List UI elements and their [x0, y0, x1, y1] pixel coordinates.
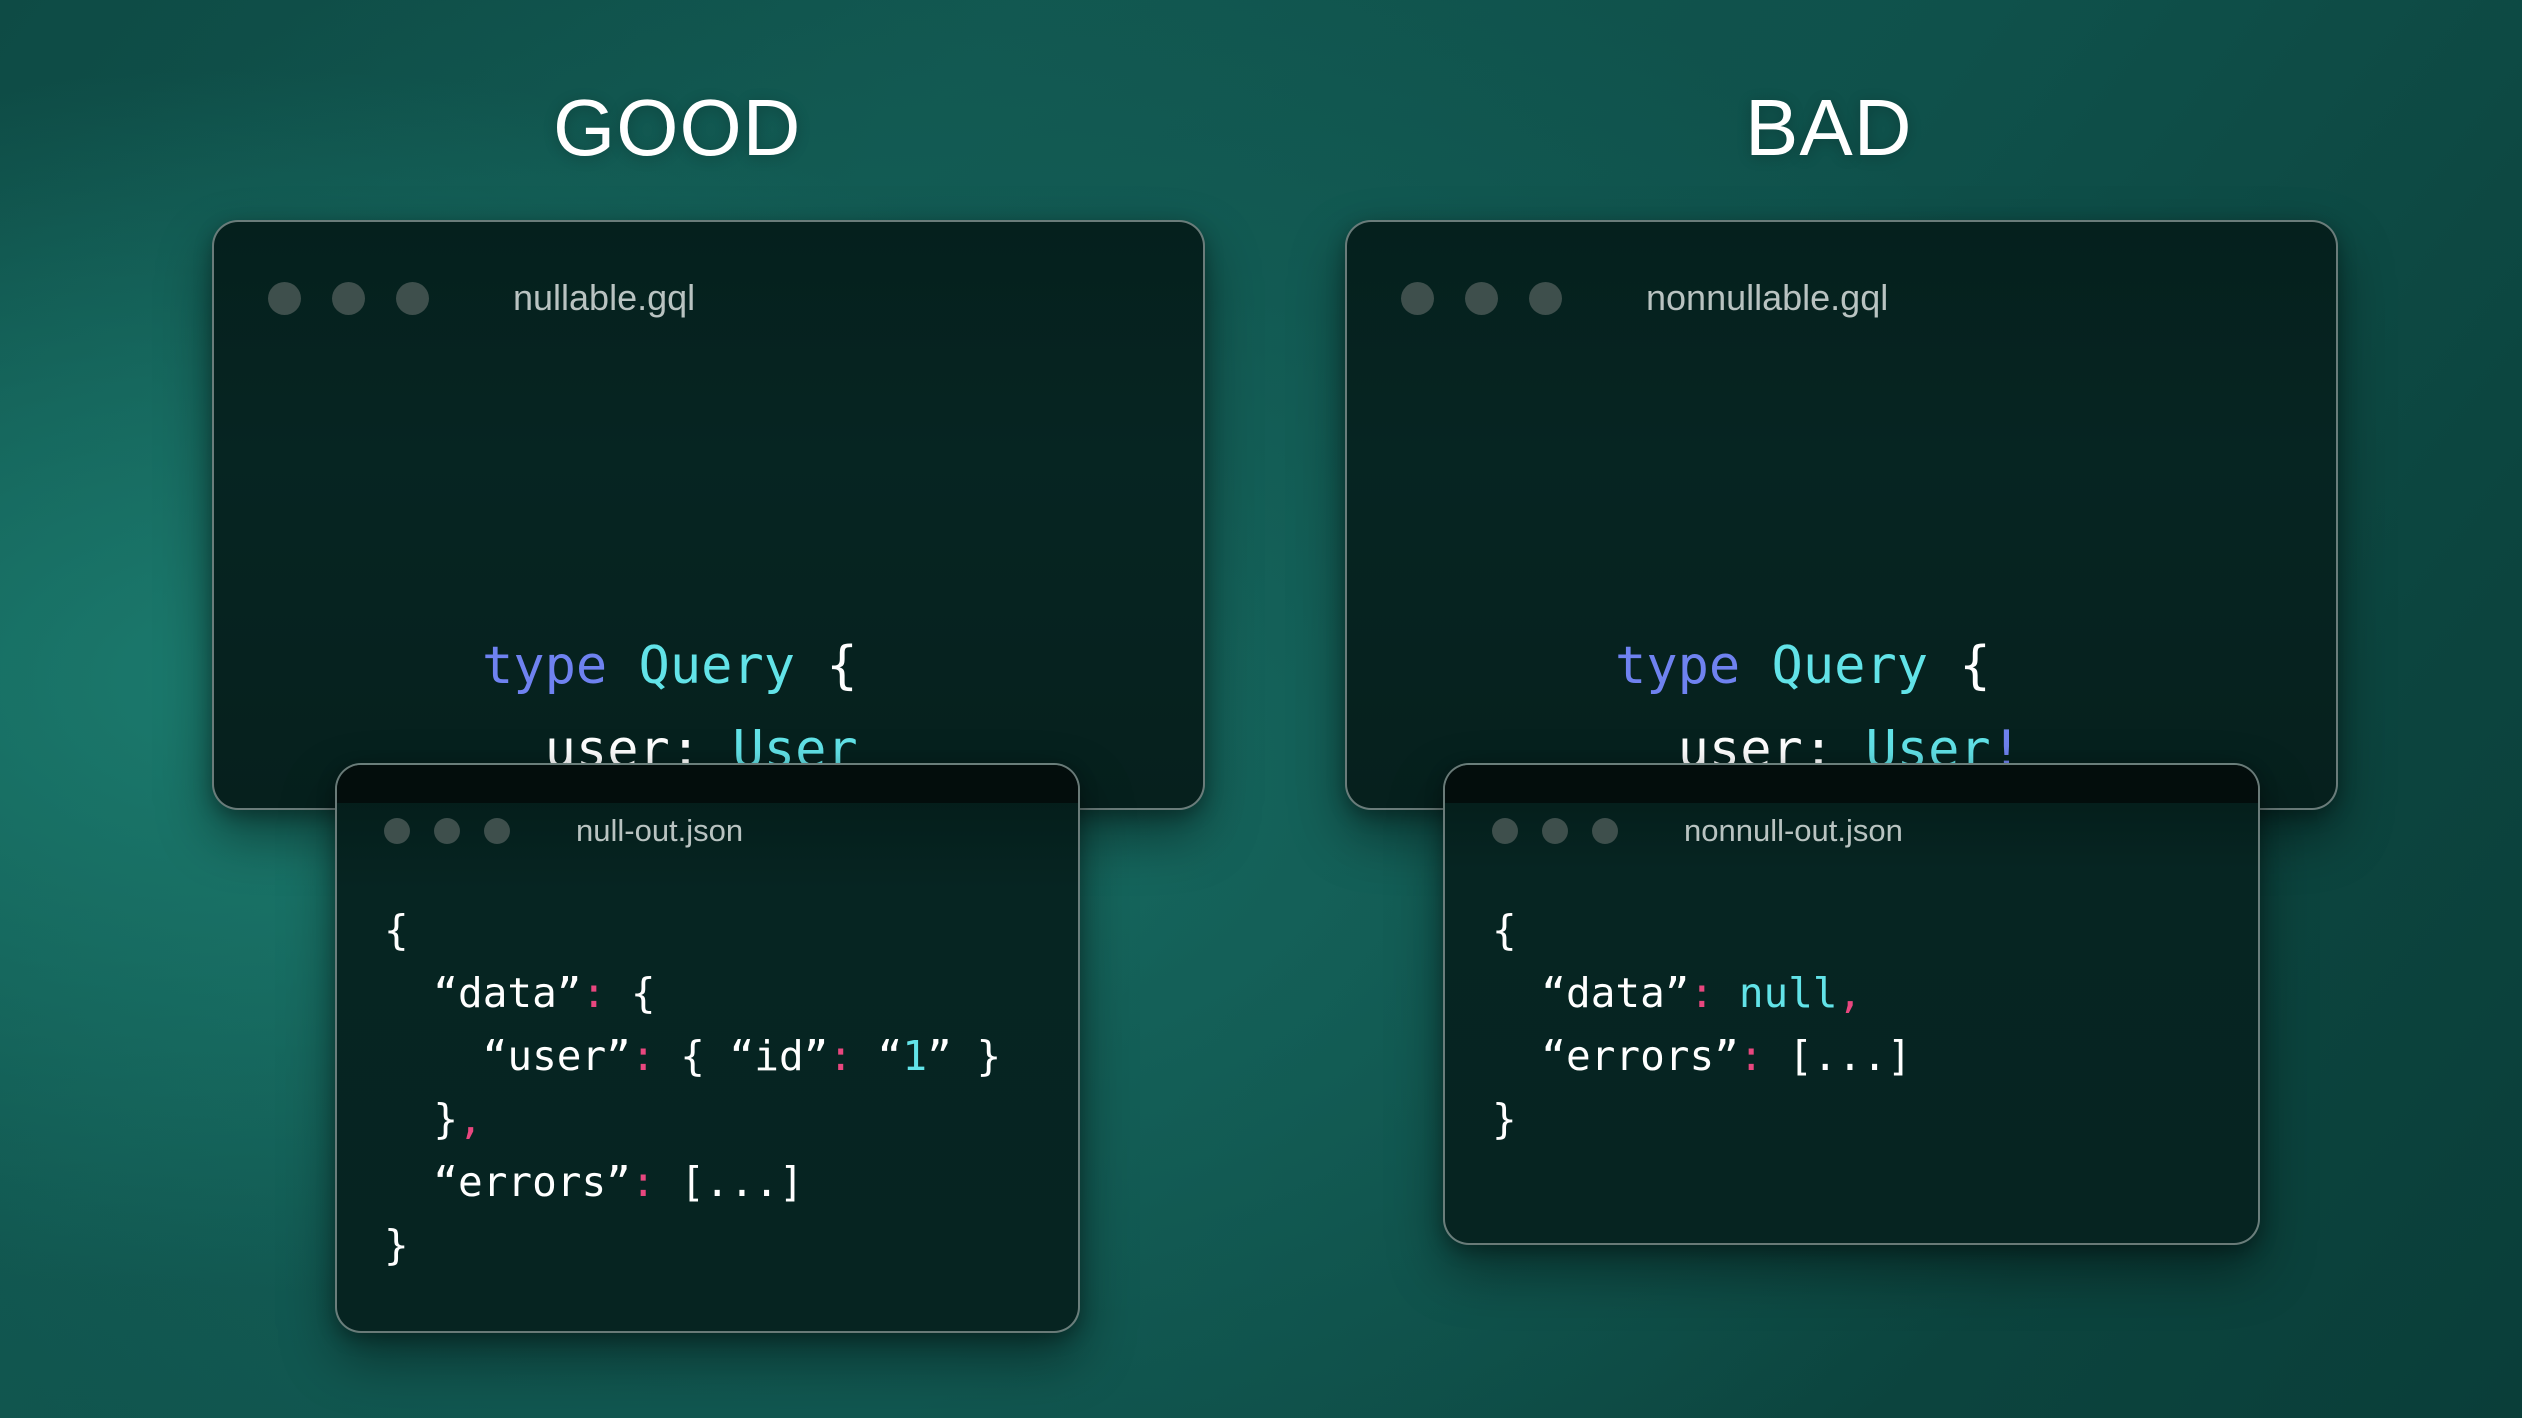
good-output-code[interactable]: { “data”: { “user”: { “id”: “1” } }, “er… [384, 899, 1001, 1277]
window-title: nonnull-out.json [1684, 813, 1903, 849]
close-dot[interactable] [1492, 818, 1518, 844]
code-token: { “id” [656, 1032, 829, 1080]
code-line: “user”: { “id”: “1” } [384, 1025, 1001, 1088]
code-token: “user” [384, 1032, 631, 1080]
code-token: type [482, 636, 607, 696]
bad-column-heading: BAD [1745, 88, 1913, 168]
code-token: : [1739, 1032, 1764, 1080]
window-top-strip [1445, 765, 2258, 803]
code-token: ” } [927, 1032, 1001, 1080]
code-token: [...] [1764, 1032, 1912, 1080]
good-schema-titlebar: nullable.gql [214, 268, 1203, 328]
code-token: } [384, 1221, 409, 1269]
good-output-titlebar: null-out.json [337, 803, 1078, 859]
code-token [1740, 636, 1771, 696]
code-line: “data”: null, [1492, 962, 1912, 1025]
code-token: [...] [656, 1158, 804, 1206]
bad-output-window[interactable]: nonnull-out.json { “data”: null, “errors… [1443, 763, 2260, 1245]
code-token [795, 636, 826, 696]
code-token: , [1838, 969, 1863, 1017]
bad-output-titlebar: nonnull-out.json [1445, 803, 2258, 859]
good-column-heading: GOOD [553, 88, 801, 168]
code-token: “data” [1492, 969, 1689, 1017]
code-token: } [1492, 1095, 1517, 1143]
code-token: type [1615, 636, 1740, 696]
maximize-dot[interactable] [396, 282, 429, 315]
code-token: “errors” [384, 1158, 631, 1206]
close-dot[interactable] [384, 818, 410, 844]
window-top-strip [337, 765, 1078, 803]
code-token [1714, 969, 1739, 1017]
code-token: { [826, 636, 857, 696]
code-line: type Query { [482, 624, 1046, 708]
code-line: { [1492, 899, 1912, 962]
bad-output-code[interactable]: { “data”: null, “errors”: [...]} [1492, 899, 1912, 1151]
code-token: { [606, 969, 655, 1017]
code-token: “data” [384, 969, 581, 1017]
code-token: , [458, 1095, 483, 1143]
code-token: { [1959, 636, 1990, 696]
code-token: { [384, 906, 409, 954]
maximize-dot[interactable] [1592, 818, 1618, 844]
minimize-dot[interactable] [332, 282, 365, 315]
code-token: : [1689, 969, 1714, 1017]
code-line: type Query { [1615, 624, 2210, 708]
window-title: nullable.gql [513, 277, 695, 319]
bad-schema-window[interactable]: nonnullable.gql type Query { user: User!… [1345, 220, 2338, 810]
traffic-lights [384, 818, 534, 844]
close-dot[interactable] [268, 282, 301, 315]
minimize-dot[interactable] [1542, 818, 1568, 844]
code-line: “errors”: [...] [384, 1151, 1001, 1214]
maximize-dot[interactable] [484, 818, 510, 844]
code-token: Query [639, 636, 796, 696]
code-token: { [1492, 906, 1517, 954]
close-dot[interactable] [1401, 282, 1434, 315]
code-line: “errors”: [...] [1492, 1025, 1912, 1088]
code-token: Query [1772, 636, 1929, 696]
bad-schema-titlebar: nonnullable.gql [1347, 268, 2336, 328]
window-title: null-out.json [576, 813, 743, 849]
code-line: } [1492, 1088, 1912, 1151]
code-line: }, [384, 1088, 1001, 1151]
traffic-lights [1401, 282, 1593, 315]
minimize-dot[interactable] [1465, 282, 1498, 315]
minimize-dot[interactable] [434, 818, 460, 844]
code-line: } [384, 1214, 1001, 1277]
maximize-dot[interactable] [1529, 282, 1562, 315]
code-token: : [631, 1158, 656, 1206]
good-schema-window[interactable]: nullable.gql type Query { user: User pro… [212, 220, 1205, 810]
window-title: nonnullable.gql [1646, 277, 1888, 319]
code-token: null [1739, 969, 1838, 1017]
code-token [1928, 636, 1959, 696]
code-token [607, 636, 638, 696]
traffic-lights [1492, 818, 1642, 844]
code-token: 1 [902, 1032, 927, 1080]
good-output-window[interactable]: null-out.json { “data”: { “user”: { “id”… [335, 763, 1080, 1333]
code-line: “data”: { [384, 962, 1001, 1025]
code-token: : [828, 1032, 853, 1080]
code-line: { [384, 899, 1001, 962]
code-token: } [384, 1095, 458, 1143]
code-token: “ [853, 1032, 902, 1080]
code-token: “errors” [1492, 1032, 1739, 1080]
traffic-lights [268, 282, 460, 315]
code-token: : [631, 1032, 656, 1080]
comparison-slide: GOOD BAD nullable.gql type Query { user:… [0, 0, 2522, 1418]
code-token: : [581, 969, 606, 1017]
